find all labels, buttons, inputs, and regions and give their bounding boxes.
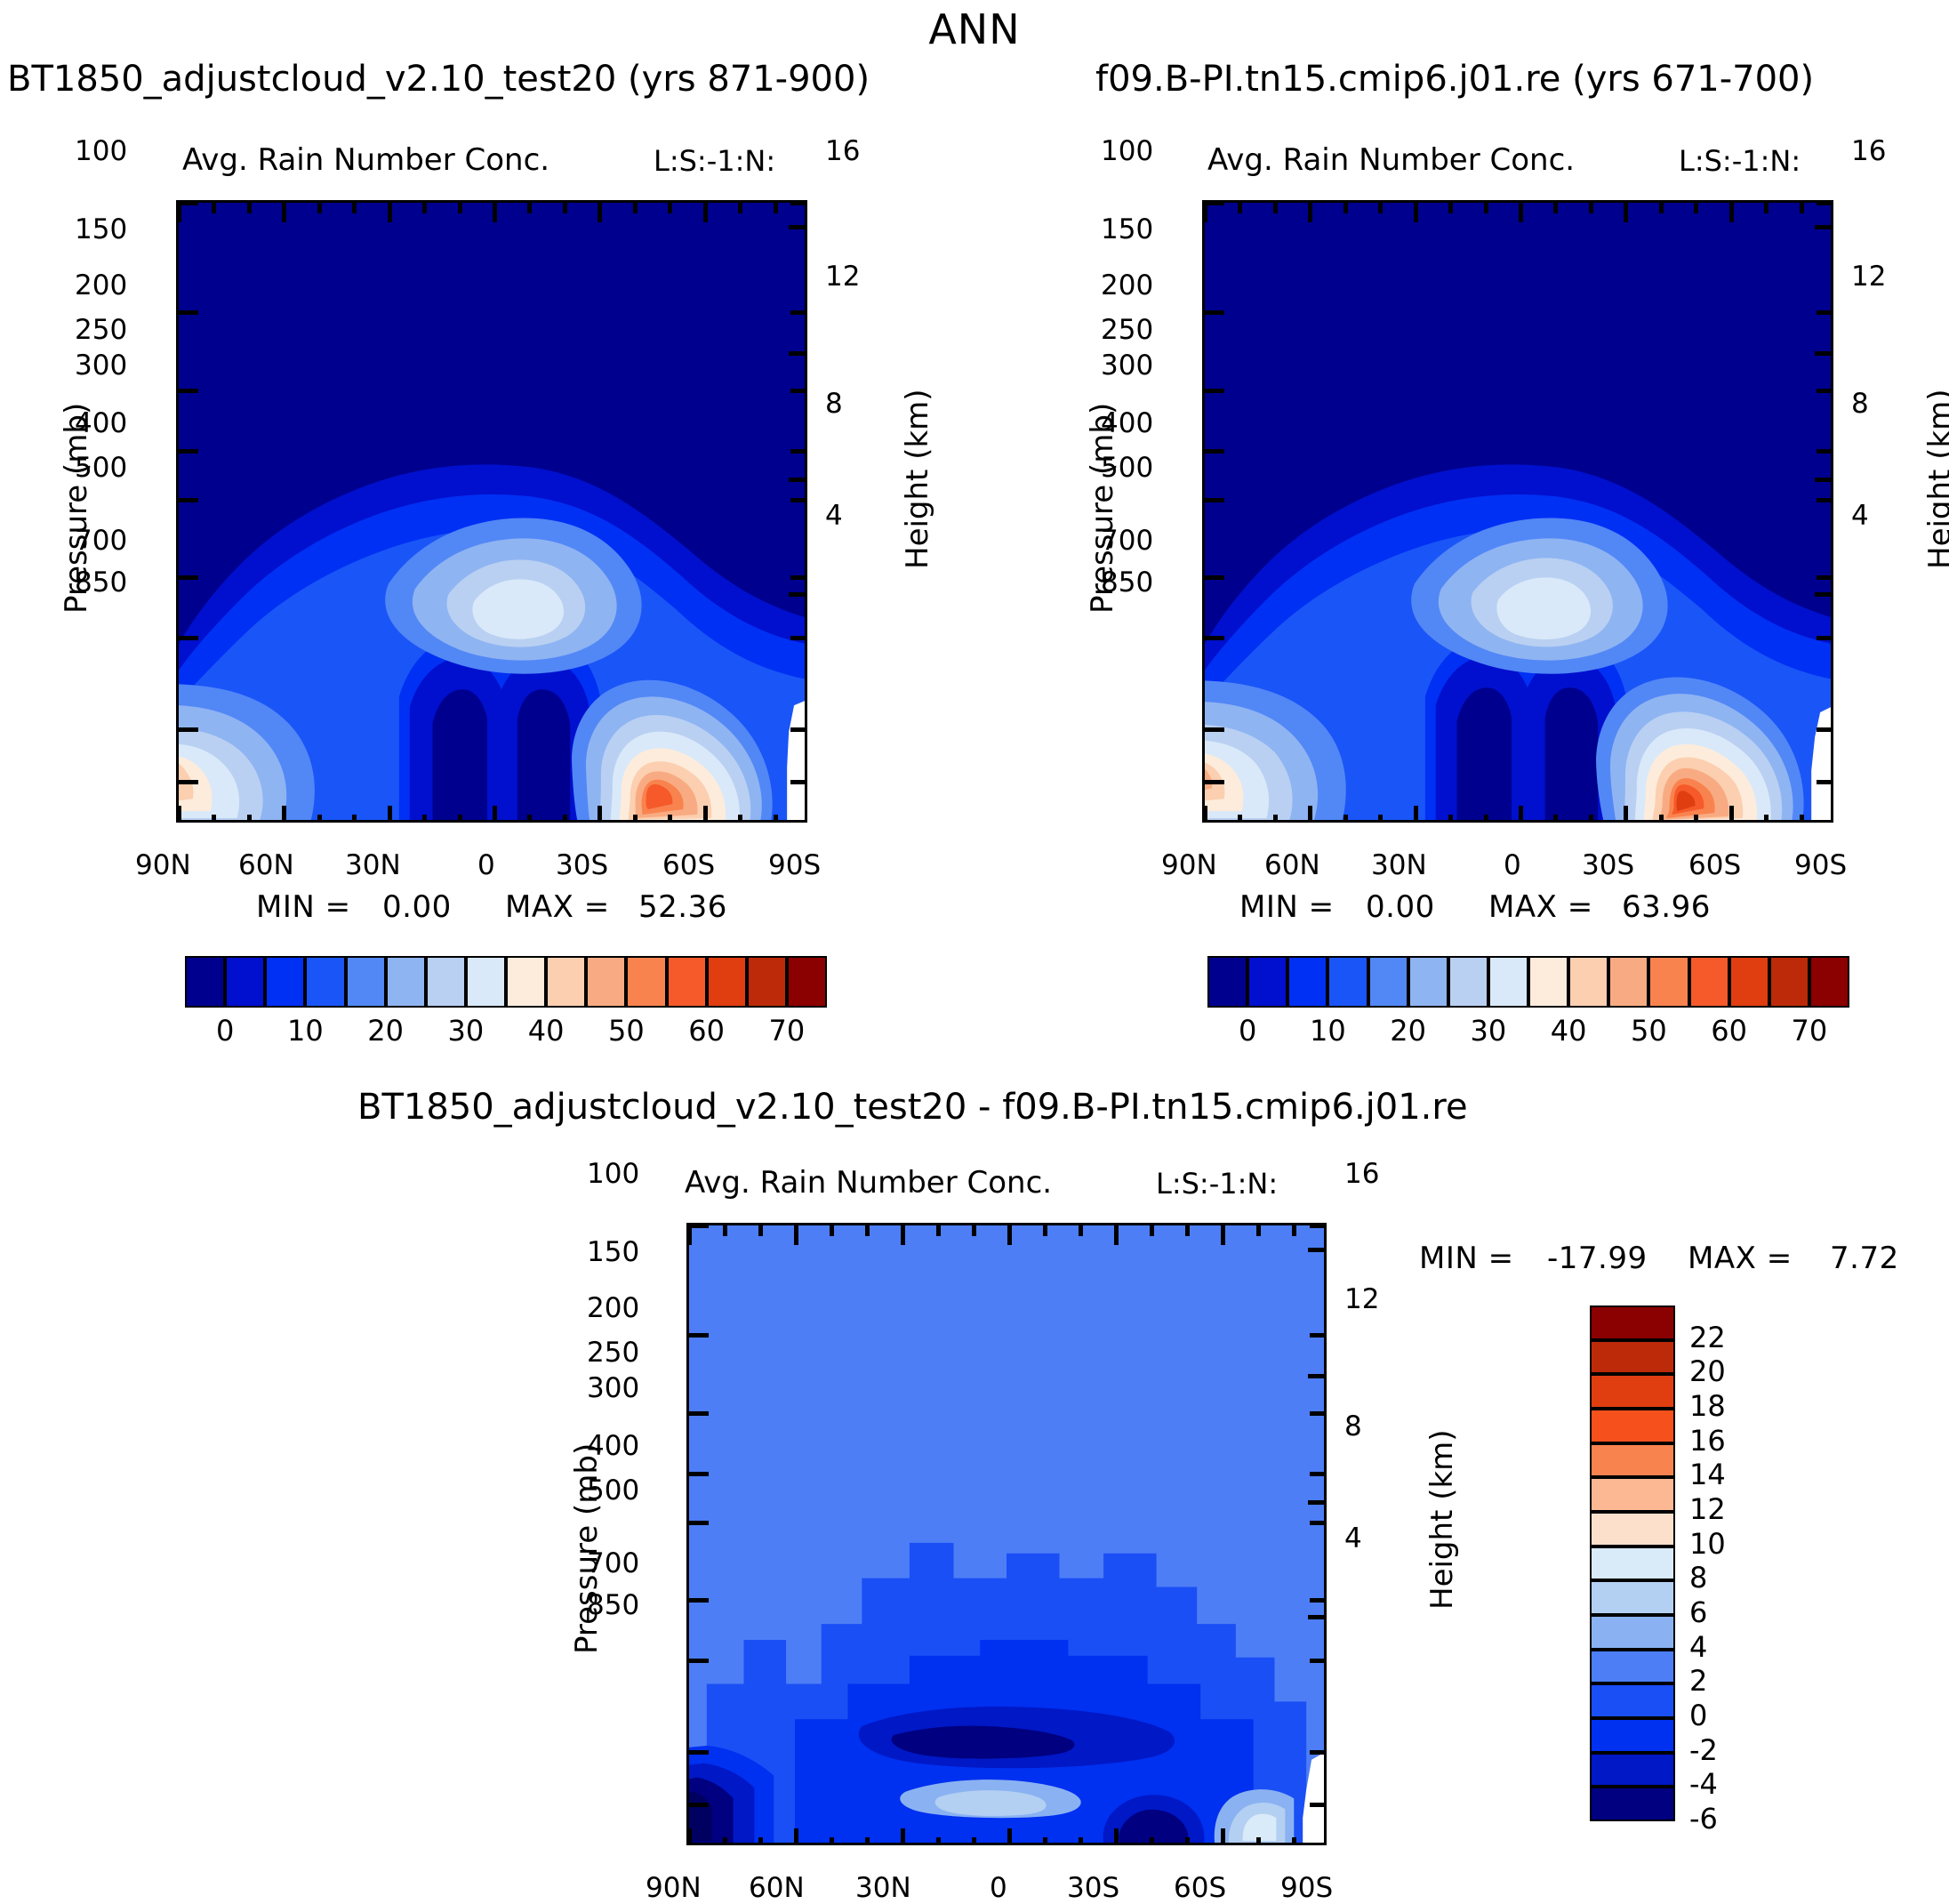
lattick-top-2 xyxy=(247,203,252,213)
right-colorbar-tick-60: 60 xyxy=(1708,1014,1751,1048)
diff-colorbar-tick-neg4: -4 xyxy=(1689,1767,1718,1801)
ptick-right-850 xyxy=(1310,1803,1327,1807)
lattick-1 xyxy=(1238,815,1242,823)
ptick-right-300 xyxy=(790,498,807,502)
right-colorbar-swatch-9[interactable] xyxy=(1568,956,1608,1008)
diff-ptick-300: 300 xyxy=(587,1372,639,1404)
lattick-top-3 xyxy=(1308,203,1312,222)
lattick-top-8 xyxy=(972,1225,976,1236)
left-panel-subtitle: Avg. Rain Number Conc. xyxy=(182,142,549,178)
lattick-top-1 xyxy=(723,1225,727,1236)
right-ptick-200: 200 xyxy=(1101,269,1153,301)
ptick-700 xyxy=(1205,727,1224,732)
right-colorbar-swatch-8[interactable] xyxy=(1528,956,1568,1008)
lattick-6 xyxy=(388,806,392,823)
left-colorbar-tick-40: 40 xyxy=(525,1014,567,1048)
lattick-11 xyxy=(1079,1837,1083,1845)
right-panel-title: f09.B-PI.tn15.cmip6.j01.re (yrs 671-700) xyxy=(1095,59,1814,100)
ptick-right-500 xyxy=(790,636,807,640)
left-lat-30N: 30N xyxy=(345,849,401,881)
diff-colorbar-tick-2: 2 xyxy=(1689,1664,1707,1698)
lattick-14 xyxy=(668,815,672,823)
lattick-top-4 xyxy=(1343,203,1348,213)
diff-ptick-250: 250 xyxy=(587,1337,639,1369)
ptick-right-300 xyxy=(1310,1521,1327,1525)
diff-colorbar-swatch-7[interactable] xyxy=(1590,1546,1675,1581)
lattick-16 xyxy=(1256,1837,1261,1845)
diff-colorbar-tick-20: 20 xyxy=(1689,1354,1726,1388)
lattick-17 xyxy=(1800,815,1804,823)
lattick-top-14 xyxy=(1694,203,1698,213)
left-colorbar-swatch-5[interactable] xyxy=(386,956,426,1008)
diff-colorbar-tick-neg2: -2 xyxy=(1689,1733,1718,1767)
htick-16 xyxy=(1815,225,1833,229)
diff-lat-0: 0 xyxy=(990,1872,1007,1904)
diff-lat-30N: 30N xyxy=(855,1872,911,1904)
lattick-top-9 xyxy=(1519,203,1523,222)
ptick-500 xyxy=(689,1659,709,1663)
lattick-top-16 xyxy=(1256,1225,1261,1236)
diff-colorbar-swatch-4[interactable] xyxy=(1590,1443,1675,1478)
lattick-3 xyxy=(1308,806,1312,823)
ptick-850 xyxy=(179,780,198,784)
right-colorbar-swatch-14[interactable] xyxy=(1769,956,1809,1008)
left-colorbar-tick-50: 50 xyxy=(605,1014,647,1048)
left-ptick-100: 100 xyxy=(75,135,127,167)
lattick-top-15 xyxy=(1729,203,1734,222)
left-htick-12: 12 xyxy=(825,261,860,293)
diff-colorbar-swatch-8[interactable] xyxy=(1590,1580,1675,1615)
diff-colorbar-tick-8: 8 xyxy=(1689,1561,1707,1595)
lattick-4 xyxy=(317,815,322,823)
left-panel-units: L:S:-1:N: xyxy=(654,144,775,178)
left-colorbar[interactable] xyxy=(185,956,827,1008)
diff-ptick-500: 500 xyxy=(587,1474,639,1506)
diff-colorbar-swatch-1[interactable] xyxy=(1590,1340,1675,1375)
left-htick-16: 16 xyxy=(825,135,860,167)
lattick-0 xyxy=(177,806,181,823)
left-min-label: MIN = xyxy=(256,889,351,925)
lattick-top-17 xyxy=(1292,1225,1296,1236)
lattick-top-8 xyxy=(458,203,462,213)
diff-colorbar-swatch-14[interactable] xyxy=(1590,1787,1675,1821)
right-colorbar-tick-40: 40 xyxy=(1547,1014,1590,1048)
ptick-right-850 xyxy=(790,780,807,784)
diff-colorbar[interactable] xyxy=(1590,1305,1675,1821)
ptick-850 xyxy=(689,1803,709,1807)
ptick-right-500 xyxy=(1310,1659,1327,1663)
lattick-17 xyxy=(1292,1837,1296,1845)
left-colorbar-swatch-4[interactable] xyxy=(346,956,386,1008)
diff-ptick-150: 150 xyxy=(587,1236,639,1268)
left-colorbar-swatch-12[interactable] xyxy=(667,956,707,1008)
lattick-11 xyxy=(563,815,567,823)
lattick-top-0 xyxy=(687,1225,692,1245)
right-colorbar-swatch-4[interactable] xyxy=(1368,956,1408,1008)
lattick-12 xyxy=(1624,806,1628,823)
lattick-top-12 xyxy=(1114,1225,1119,1245)
htick-4 xyxy=(789,592,807,597)
diff-min-label: MIN = xyxy=(1419,1241,1514,1276)
ptick-right-850 xyxy=(1817,780,1833,784)
diff-colorbar-tick-6: 6 xyxy=(1689,1595,1707,1629)
right-colorbar-tick-30: 30 xyxy=(1467,1014,1510,1048)
lattick-3 xyxy=(794,1828,798,1845)
left-plot-area xyxy=(176,200,807,823)
diff-colorbar-tick-14: 14 xyxy=(1689,1458,1726,1491)
ptick-500 xyxy=(1205,636,1224,640)
right-ptick-100: 100 xyxy=(1101,135,1153,167)
lattick-9 xyxy=(493,806,497,823)
right-plot-area xyxy=(1202,200,1833,823)
diff-panel-subtitle: Avg. Rain Number Conc. xyxy=(685,1165,1052,1201)
ptick-right-400 xyxy=(790,575,807,580)
lattick-top-7 xyxy=(936,1225,941,1236)
htick-12 xyxy=(1815,351,1833,356)
lattick-top-11 xyxy=(1079,1225,1083,1236)
lattick-top-6 xyxy=(901,1225,905,1245)
lattick-14 xyxy=(1694,815,1698,823)
diff-lat-90N: 90N xyxy=(646,1872,702,1904)
htick-16 xyxy=(789,225,807,229)
right-min-value: 0.00 xyxy=(1366,889,1435,925)
lattick-7 xyxy=(422,815,427,823)
lattick-13 xyxy=(1659,815,1664,823)
ptick-150 xyxy=(689,1333,709,1338)
ptick-right-250 xyxy=(790,449,807,454)
diff-colorbar-swatch-5[interactable] xyxy=(1590,1477,1675,1512)
lattick-top-14 xyxy=(668,203,672,213)
left-colorbar-swatch-11[interactable] xyxy=(626,956,666,1008)
ptick-right-200 xyxy=(790,389,807,393)
left-colorbar-swatch-6[interactable] xyxy=(426,956,466,1008)
lattick-top-6 xyxy=(1414,203,1418,222)
ptick-850 xyxy=(1205,780,1224,784)
diff-panel-title: BT1850_adjustcloud_v2.10_test20 - f09.B-… xyxy=(357,1087,1468,1128)
lattick-16 xyxy=(1764,815,1769,823)
lattick-15 xyxy=(703,806,708,823)
left-ptick-200: 200 xyxy=(75,269,127,301)
lattick-6 xyxy=(901,1828,905,1845)
lattick-12 xyxy=(1114,1828,1119,1845)
lattick-top-12 xyxy=(598,203,602,222)
lattick-2 xyxy=(247,815,252,823)
left-colorbar-swatch-14[interactable] xyxy=(747,956,787,1008)
lattick-top-16 xyxy=(1764,203,1769,213)
left-colorbar-tick-0: 0 xyxy=(204,1014,246,1048)
ptick-150 xyxy=(179,310,198,315)
left-colorbar-swatch-13[interactable] xyxy=(707,956,747,1008)
diff-htick-16: 16 xyxy=(1344,1158,1379,1190)
diff-colorbar-tick-10: 10 xyxy=(1689,1527,1726,1561)
right-ptick-400: 400 xyxy=(1101,407,1153,439)
left-lat-0: 0 xyxy=(477,849,495,881)
diff-colorbar-swatch-10[interactable] xyxy=(1590,1650,1675,1684)
lattick-top-15 xyxy=(703,203,708,222)
ptick-400 xyxy=(689,1598,709,1603)
diff-colorbar-tick-18: 18 xyxy=(1689,1389,1726,1423)
lattick-2 xyxy=(1273,815,1278,823)
left-htick-4: 4 xyxy=(825,500,843,532)
right-colorbar-swatch-2[interactable] xyxy=(1287,956,1327,1008)
right-colorbar-swatch-10[interactable] xyxy=(1608,956,1648,1008)
diff-colorbar-swatch-12[interactable] xyxy=(1590,1718,1675,1753)
lattick-10 xyxy=(1553,815,1558,823)
diff-contour-field xyxy=(689,1225,1324,1843)
left-colorbar-swatch-2[interactable] xyxy=(265,956,305,1008)
lattick-top-1 xyxy=(212,203,216,213)
right-colorbar-swatch-11[interactable] xyxy=(1648,956,1688,1008)
htick-12 xyxy=(789,351,807,356)
diff-min-value: -17.99 xyxy=(1547,1241,1648,1276)
diff-colorbar-tick-0: 0 xyxy=(1689,1699,1707,1732)
ptick-right-100 xyxy=(1817,201,1833,205)
ptick-right-500 xyxy=(1817,636,1833,640)
diff-colorbar-swatch-11[interactable] xyxy=(1590,1683,1675,1718)
right-colorbar-tick-50: 50 xyxy=(1627,1014,1670,1048)
lattick-top-13 xyxy=(1659,203,1664,213)
right-colorbar-swatch-1[interactable] xyxy=(1247,956,1287,1008)
ptick-100 xyxy=(689,1224,709,1228)
right-ptick-250: 250 xyxy=(1101,314,1153,346)
ptick-right-700 xyxy=(1310,1750,1327,1755)
lattick-top-13 xyxy=(633,203,638,213)
diff-colorbar-swatch-2[interactable] xyxy=(1590,1374,1675,1409)
left-colorbar-swatch-8[interactable] xyxy=(506,956,546,1008)
left-colorbar-tick-10: 10 xyxy=(284,1014,326,1048)
lattick-top-11 xyxy=(563,203,567,213)
ptick-200 xyxy=(179,389,198,393)
lattick-top-10 xyxy=(527,203,532,213)
lattick-14 xyxy=(1185,1837,1190,1845)
left-ptick-500: 500 xyxy=(75,452,127,484)
lattick-10 xyxy=(1043,1837,1047,1845)
lattick-8 xyxy=(1484,815,1488,823)
left-colorbar-labels: 010203040506070 xyxy=(185,1014,827,1055)
right-colorbar-swatch-6[interactable] xyxy=(1448,956,1488,1008)
lattick-10 xyxy=(527,815,532,823)
left-colorbar-swatch-10[interactable] xyxy=(586,956,626,1008)
lattick-8 xyxy=(972,1837,976,1845)
diff-max-value: 7.72 xyxy=(1830,1241,1899,1276)
lattick-top-11 xyxy=(1589,203,1593,213)
lattick-top-5 xyxy=(352,203,357,213)
right-colorbar-swatch-12[interactable] xyxy=(1689,956,1729,1008)
lattick-top-5 xyxy=(865,1225,870,1236)
right-max-label: MAX = xyxy=(1488,889,1593,925)
left-colorbar-swatch-7[interactable] xyxy=(466,956,506,1008)
lattick-16 xyxy=(738,815,742,823)
ptick-right-400 xyxy=(1817,575,1833,580)
diff-ptick-100: 100 xyxy=(587,1158,639,1190)
diff-htick-4: 4 xyxy=(1344,1522,1362,1555)
ptick-right-150 xyxy=(790,310,807,315)
left-colorbar-tick-70: 70 xyxy=(766,1014,808,1048)
left-htick-8: 8 xyxy=(825,388,843,420)
lattick-4 xyxy=(1343,815,1348,823)
lattick-9 xyxy=(1007,1828,1012,1845)
lattick-top-16 xyxy=(738,203,742,213)
ptick-right-250 xyxy=(1817,449,1833,454)
ptick-200 xyxy=(689,1411,709,1416)
right-htick-4: 4 xyxy=(1851,500,1869,532)
diff-colorbar-swatch-0[interactable] xyxy=(1590,1305,1675,1340)
right-colorbar-swatch-7[interactable] xyxy=(1488,956,1528,1008)
right-panel-units: L:S:-1:N: xyxy=(1679,144,1801,178)
right-lat-60N: 60N xyxy=(1264,849,1320,881)
lattick-5 xyxy=(1378,815,1383,823)
ptick-right-200 xyxy=(1817,389,1833,393)
left-height-axis-label: Height (km) xyxy=(900,389,935,569)
ptick-100 xyxy=(1205,201,1224,205)
lattick-top-2 xyxy=(1273,203,1278,213)
ptick-300 xyxy=(1205,498,1224,502)
ptick-right-150 xyxy=(1310,1333,1327,1338)
right-colorbar-swatch-13[interactable] xyxy=(1729,956,1769,1008)
lattick-top-9 xyxy=(1007,1225,1012,1245)
right-htick-8: 8 xyxy=(1851,388,1869,420)
lattick-8 xyxy=(458,815,462,823)
right-colorbar[interactable] xyxy=(1207,956,1849,1008)
lattick-2 xyxy=(758,1837,763,1845)
ptick-right-100 xyxy=(790,201,807,205)
right-ptick-850: 850 xyxy=(1101,566,1153,599)
lattick-1 xyxy=(723,1837,727,1845)
ptick-250 xyxy=(1205,449,1224,454)
lattick-top-4 xyxy=(317,203,322,213)
lattick-top-17 xyxy=(774,203,778,213)
ptick-500 xyxy=(179,636,198,640)
right-ptick-700: 700 xyxy=(1101,525,1153,557)
right-ptick-300: 300 xyxy=(1101,349,1153,382)
left-ptick-250: 250 xyxy=(75,314,127,346)
diff-lat-30S: 30S xyxy=(1067,1872,1119,1904)
lattick-6 xyxy=(1414,806,1418,823)
left-colorbar-swatch-0[interactable] xyxy=(185,956,225,1008)
right-colorbar-swatch-5[interactable] xyxy=(1408,956,1448,1008)
ptick-100 xyxy=(179,201,198,205)
left-ptick-300: 300 xyxy=(75,349,127,382)
left-colorbar-swatch-3[interactable] xyxy=(305,956,345,1008)
htick-12 xyxy=(1308,1374,1327,1378)
diff-ptick-700: 700 xyxy=(587,1547,639,1579)
lattick-1 xyxy=(212,815,216,823)
lattick-13 xyxy=(1150,1837,1154,1845)
htick-8 xyxy=(1815,478,1833,482)
htick-8 xyxy=(789,478,807,482)
lattick-5 xyxy=(352,815,357,823)
diff-colorbar-tick-12: 12 xyxy=(1689,1492,1726,1526)
lattick-top-3 xyxy=(794,1225,798,1245)
ptick-200 xyxy=(1205,389,1224,393)
ptick-300 xyxy=(179,498,198,502)
lattick-top-13 xyxy=(1150,1225,1154,1236)
right-lat-0: 0 xyxy=(1504,849,1521,881)
right-colorbar-swatch-0[interactable] xyxy=(1207,956,1247,1008)
lattick-15 xyxy=(1729,806,1734,823)
lattick-12 xyxy=(598,806,602,823)
lattick-top-17 xyxy=(1800,203,1804,213)
left-ptick-850: 850 xyxy=(75,566,127,599)
diff-ptick-200: 200 xyxy=(587,1292,639,1324)
diff-lat-60N: 60N xyxy=(749,1872,805,1904)
right-colorbar-swatch-3[interactable] xyxy=(1327,956,1368,1008)
ptick-right-700 xyxy=(790,727,807,732)
lattick-0 xyxy=(687,1828,692,1845)
ptick-right-150 xyxy=(1817,310,1833,315)
lattick-4 xyxy=(830,1837,834,1845)
left-lat-60S: 60S xyxy=(662,849,715,881)
lattick-top-6 xyxy=(388,203,392,222)
htick-8 xyxy=(1308,1500,1327,1505)
lattick-17 xyxy=(774,815,778,823)
ptick-300 xyxy=(689,1521,709,1525)
right-contour-field xyxy=(1205,203,1831,820)
left-lat-90N: 90N xyxy=(135,849,191,881)
diff-colorbar-swatch-9[interactable] xyxy=(1590,1615,1675,1650)
right-colorbar-swatch-15[interactable] xyxy=(1809,956,1849,1008)
ptick-250 xyxy=(689,1472,709,1476)
left-panel-title: BT1850_adjustcloud_v2.10_test20 (yrs 871… xyxy=(7,59,870,100)
diff-htick-8: 8 xyxy=(1344,1410,1362,1442)
diff-colorbar-swatch-13[interactable] xyxy=(1590,1753,1675,1788)
right-max-value: 63.96 xyxy=(1622,889,1711,925)
lattick-top-12 xyxy=(1624,203,1628,222)
ptick-400 xyxy=(1205,575,1224,580)
left-lat-60N: 60N xyxy=(238,849,294,881)
right-panel-subtitle: Avg. Rain Number Conc. xyxy=(1207,142,1575,178)
diff-colorbar-swatch-6[interactable] xyxy=(1590,1512,1675,1546)
right-min-label: MIN = xyxy=(1239,889,1335,925)
lattick-top-7 xyxy=(1448,203,1453,213)
diff-colorbar-labels: 2220181614121086420-2-4-6 xyxy=(1680,1305,1787,1821)
left-max-label: MAX = xyxy=(505,889,610,925)
right-ptick-150: 150 xyxy=(1101,213,1153,245)
ptick-700 xyxy=(179,727,198,732)
left-ptick-400: 400 xyxy=(75,407,127,439)
ptick-right-400 xyxy=(1310,1598,1327,1603)
diff-lat-60S: 60S xyxy=(1174,1872,1226,1904)
lattick-top-0 xyxy=(177,203,181,222)
diff-colorbar-tick-16: 16 xyxy=(1689,1424,1726,1458)
right-colorbar-tick-10: 10 xyxy=(1306,1014,1349,1048)
right-colorbar-labels: 010203040506070 xyxy=(1207,1014,1849,1055)
left-colorbar-swatch-15[interactable] xyxy=(787,956,827,1008)
diff-colorbar-swatch-3[interactable] xyxy=(1590,1409,1675,1443)
right-htick-16: 16 xyxy=(1851,135,1886,167)
left-colorbar-swatch-9[interactable] xyxy=(546,956,586,1008)
right-colorbar-tick-20: 20 xyxy=(1387,1014,1430,1048)
lattick-7 xyxy=(1448,815,1453,823)
right-ptick-500: 500 xyxy=(1101,452,1153,484)
diff-ptick-850: 850 xyxy=(587,1589,639,1621)
lattick-15 xyxy=(1221,1828,1225,1845)
lattick-top-3 xyxy=(282,203,286,222)
lattick-top-15 xyxy=(1221,1225,1225,1245)
right-lat-30N: 30N xyxy=(1371,849,1427,881)
lattick-5 xyxy=(865,1837,870,1845)
left-colorbar-swatch-1[interactable] xyxy=(225,956,265,1008)
right-height-axis-label: Height (km) xyxy=(1922,389,1949,569)
left-min-value: 0.00 xyxy=(382,889,452,925)
right-lat-90S: 90S xyxy=(1794,849,1847,881)
left-colorbar-tick-20: 20 xyxy=(365,1014,407,1048)
diff-max-label: MAX = xyxy=(1688,1241,1793,1276)
diff-colorbar-tick-4: 4 xyxy=(1689,1630,1707,1664)
figure-suptitle: ANN xyxy=(0,5,1949,53)
ptick-right-300 xyxy=(1817,498,1833,502)
lattick-0 xyxy=(1203,806,1207,823)
